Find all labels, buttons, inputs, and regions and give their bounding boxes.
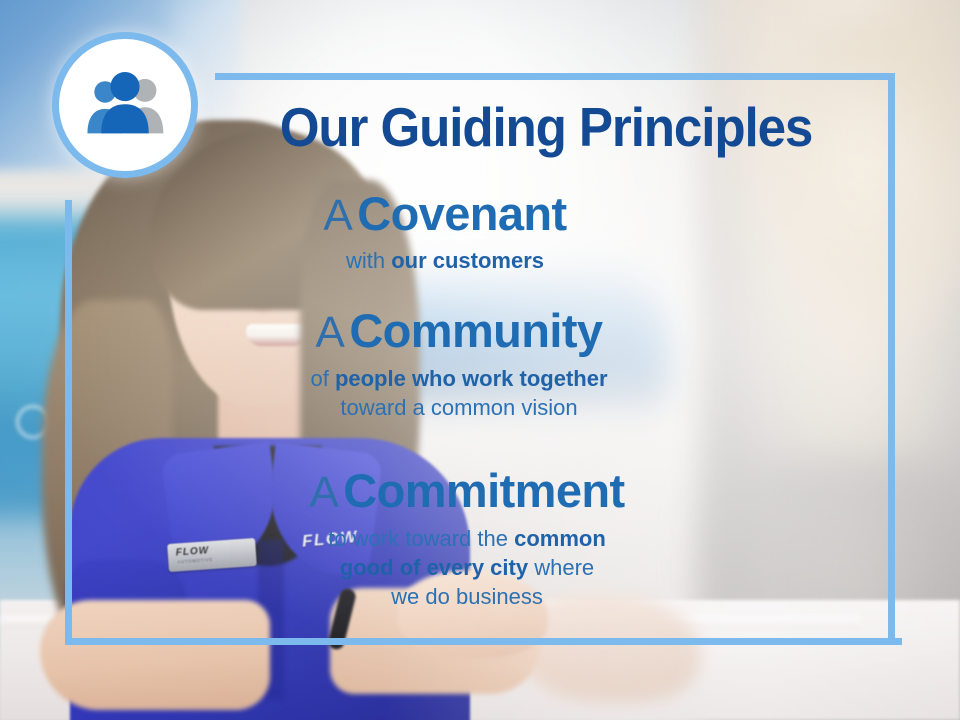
principle-community-keyword: Community bbox=[349, 304, 602, 357]
principle-commitment-subtitle: to work toward the commongood of every c… bbox=[0, 524, 934, 611]
subtitle-emphasis: our customers bbox=[391, 248, 544, 273]
principle-covenant: A Covenant with our customers bbox=[0, 186, 890, 275]
subtitle-text: toward a common vision bbox=[340, 395, 577, 420]
principle-commitment-keyword: Commitment bbox=[343, 464, 624, 517]
poster-canvas: FLOW AUTOMOTIVE FLOW bbox=[0, 0, 960, 720]
text-content: Our Guiding Principles A Covenant with o… bbox=[0, 0, 960, 720]
subtitle-text: where bbox=[528, 555, 594, 580]
subtitle-text: we do business bbox=[391, 584, 543, 609]
principle-covenant-article: A bbox=[323, 191, 352, 240]
subtitle-text: of bbox=[310, 366, 334, 391]
subtitle-emphasis: people who work together bbox=[335, 366, 608, 391]
subtitle-emphasis: common bbox=[514, 526, 606, 551]
subtitle-emphasis: good of every city bbox=[340, 555, 528, 580]
principle-covenant-subtitle: with our customers bbox=[0, 246, 890, 275]
subtitle-line: of people who work together bbox=[0, 364, 918, 393]
principle-covenant-heading: A Covenant bbox=[0, 186, 890, 241]
principle-commitment-article: A bbox=[309, 468, 338, 517]
page-title: Our Guiding Principles bbox=[239, 98, 853, 156]
principle-community: A Community of people who work togethert… bbox=[0, 303, 918, 422]
subtitle-text: with bbox=[346, 248, 391, 273]
subtitle-line: with our customers bbox=[0, 246, 890, 275]
subtitle-line: we do business bbox=[0, 582, 934, 611]
subtitle-line: good of every city where bbox=[0, 553, 934, 582]
principle-community-article: A bbox=[316, 308, 345, 357]
subtitle-line: toward a common vision bbox=[0, 393, 918, 422]
principle-covenant-keyword: Covenant bbox=[357, 187, 566, 240]
principle-community-subtitle: of people who work togethertoward a comm… bbox=[0, 364, 918, 422]
subtitle-text: to work toward the bbox=[328, 526, 514, 551]
principle-commitment-heading: A Commitment bbox=[0, 463, 934, 518]
subtitle-line: to work toward the common bbox=[0, 524, 934, 553]
principle-commitment: A Commitment to work toward the commongo… bbox=[0, 463, 934, 611]
principle-community-heading: A Community bbox=[0, 303, 918, 358]
